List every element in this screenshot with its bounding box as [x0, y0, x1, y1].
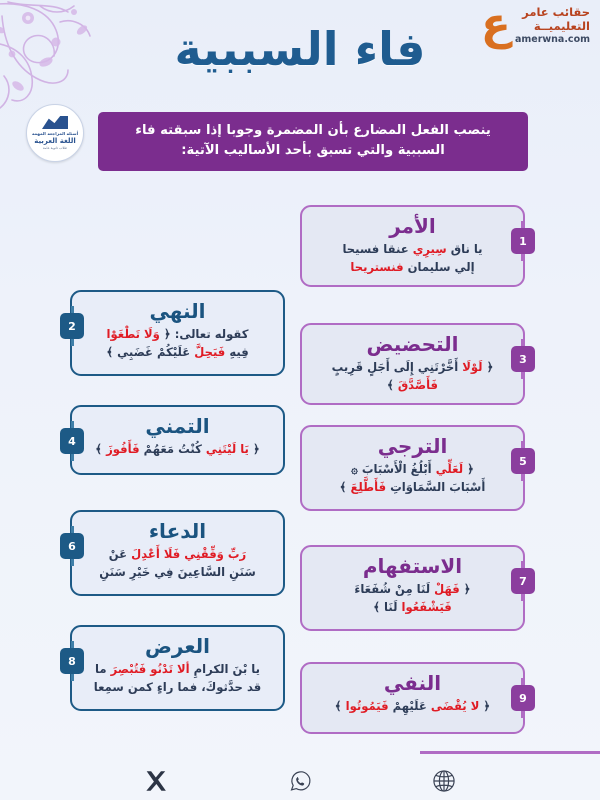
card-body-line: ﴿ لا يُقْضَى عَلَيْهِمْ فَيَمُوتُوا ﴾ [316, 698, 509, 715]
highlighted-text: وَلَا تَطْغَوْا [107, 327, 160, 341]
card-title: التحضيض [316, 332, 509, 356]
card-number-badge: 9 [511, 685, 535, 711]
card-title: النفي [316, 671, 509, 695]
plain-text: ﴿ [479, 699, 490, 713]
card-body: ﴿ لَوْلَا أَخَّرْتَنِي إِلَى أَجَلٍ قَرِ… [316, 359, 509, 393]
card-body: رَبِّ وَفِّقْنِي فَلَا أَعْدِلَ عَنْسَنَ… [86, 546, 269, 580]
seal-emblem-icon [42, 116, 68, 129]
plain-text: قد حدَّثوكَ، فما راءٍ كمن سمِعا [94, 680, 262, 694]
card-number-badge: 1 [511, 228, 535, 254]
card-9[interactable]: 9النفي﴿ لا يُقْضَى عَلَيْهِمْ فَيَمُوتُو… [300, 662, 525, 734]
card-title: الترجي [316, 434, 509, 458]
plain-text: لَنَا مِنْ شُفَعَاءَ [354, 582, 434, 596]
footer-socials [0, 768, 600, 796]
plain-text: ﴿ [483, 360, 494, 374]
card-inner: الاستفهام﴿ فَهَلْ لَنَا مِنْ شُفَعَاءَفَ… [316, 554, 509, 616]
card-title: الأمر [316, 214, 509, 238]
card-body-line: يا بْنَ الكرامِ ألا تَدْنُو فَتُبْصِرَ م… [86, 661, 269, 678]
plain-text: ﴾ [387, 378, 398, 392]
plain-text: ﴿ [249, 442, 260, 456]
card-4[interactable]: 4التمني﴿ يَا لَيْتَنِي كُنْتُ مَعَهُمْ ف… [70, 405, 285, 475]
plain-text: عَنْ [109, 547, 131, 561]
card-body: ﴿ فَهَلْ لَنَا مِنْ شُفَعَاءَفَيَشْفَعُو… [316, 581, 509, 615]
card-3[interactable]: 3التحضيض﴿ لَوْلَا أَخَّرْتَنِي إِلَى أَج… [300, 323, 525, 405]
card-number-badge: 7 [511, 568, 535, 594]
card-inner: الأمريا ناق سِيرِي عنقا فسيحاإلي سليمان … [316, 214, 509, 276]
seal-logo: أسئلة المراجعة المهمة اللغة العربية طلاب… [26, 104, 84, 162]
plain-text: إلي سليمان [404, 260, 475, 274]
social-x-twitter[interactable] [143, 768, 169, 796]
social-globe[interactable] [431, 768, 457, 796]
card-title: التمني [86, 414, 269, 438]
plain-text: يا ناق [447, 242, 483, 256]
card-1[interactable]: 1الأمريا ناق سِيرِي عنقا فسيحاإلي سليمان… [300, 205, 525, 287]
card-body-line: سَنَنِ السَّاعِينَ فِي خَيْرِ سَنَنِ [86, 564, 269, 581]
highlighted-text: فَأَفُوزَ [106, 442, 139, 456]
whatsapp-icon [287, 768, 313, 794]
highlighted-text: فَيَمُوتُوا [346, 699, 389, 713]
social-whatsapp[interactable] [287, 768, 313, 796]
plain-text: أَبْلُغُ الْأَسْبَابَ ۞ [351, 462, 436, 476]
card-inner: الدعاءرَبِّ وَفِّقْنِي فَلَا أَعْدِلَ عَ… [86, 519, 269, 581]
plain-text: فِيهِ [225, 345, 248, 359]
card-body-line: ﴿ يَا لَيْتَنِي كُنْتُ مَعَهُمْ فَأَفُوز… [86, 441, 269, 458]
highlighted-text: يَا لَيْتَنِي [206, 442, 249, 456]
card-body-line: فَيَشْفَعُوا لَنَا ﴾ [316, 599, 509, 616]
card-inner: العرضيا بْنَ الكرامِ ألا تَدْنُو فَتُبْص… [86, 634, 269, 696]
card-number-badge: 3 [511, 346, 535, 372]
card-inner: التمني﴿ يَا لَيْتَنِي كُنْتُ مَعَهُمْ فَ… [86, 414, 269, 459]
card-number-badge: 2 [60, 313, 84, 339]
card-body: كقوله تعالى: ﴿ وَلَا تَطْغَوْافِيهِ فَيَ… [86, 326, 269, 360]
plain-text: كُنْتُ مَعَهُمْ [140, 442, 206, 456]
card-title: العرض [86, 634, 269, 658]
plain-text: عَلَيْهِمْ [389, 699, 431, 713]
card-inner: التحضيض﴿ لَوْلَا أَخَّرْتَنِي إِلَى أَجَ… [316, 332, 509, 394]
card-2[interactable]: 2النهيكقوله تعالى: ﴿ وَلَا تَطْغَوْافِيه… [70, 290, 285, 376]
card-body: ﴿ لا يُقْضَى عَلَيْهِمْ فَيَمُوتُوا ﴾ [316, 698, 509, 715]
card-number-badge: 4 [60, 428, 84, 454]
card-body-line: أَسْبَابَ السَّمَاوَاتِ فَأَطَّلِعَ ﴾ [316, 479, 509, 496]
plain-text: عنقا فسيحا [342, 242, 412, 256]
card-title: الاستفهام [316, 554, 509, 578]
plain-text: ﴿ [463, 462, 474, 476]
seal-line-1: أسئلة المراجعة المهمة [32, 131, 78, 136]
highlighted-text: فَلَا أَعْدِلَ [131, 547, 180, 561]
highlighted-text: فَيَشْفَعُوا [402, 600, 452, 614]
footer-rule [420, 751, 600, 754]
card-inner: النهيكقوله تعالى: ﴿ وَلَا تَطْغَوْافِيهِ… [86, 299, 269, 361]
cards-container: 1الأمريا ناق سِيرِي عنقا فسيحاإلي سليمان… [0, 205, 600, 760]
card-7[interactable]: 7الاستفهام﴿ فَهَلْ لَنَا مِنْ شُفَعَاءَف… [300, 545, 525, 631]
card-body-line: رَبِّ وَفِّقْنِي فَلَا أَعْدِلَ عَنْ [86, 546, 269, 563]
highlighted-text: لَوْلَا [462, 360, 482, 374]
brand-line-1: حقائب عامر [515, 6, 590, 20]
highlighted-text: فَأَطَّلِعَ [351, 480, 387, 494]
card-5[interactable]: 5الترجي﴿ لَعَلِّي أَبْلُغُ الْأَسْبَابَ … [300, 425, 525, 511]
plain-text: كقوله تعالى: ﴿ [160, 327, 249, 341]
plain-text: ما [95, 662, 111, 676]
highlighted-text: ألا تَدْنُو فَتُبْصِرَ [111, 662, 190, 676]
card-body: ﴿ لَعَلِّي أَبْلُغُ الْأَسْبَابَ ۞أَسْبَ… [316, 461, 509, 495]
highlighted-text: سِيرِي [413, 242, 447, 256]
highlighted-text: فَيَحِلَّ [194, 345, 225, 359]
plain-text: يا بْنَ الكرامِ [190, 662, 260, 676]
card-inner: الترجي﴿ لَعَلِّي أَبْلُغُ الْأَسْبَابَ ۞… [316, 434, 509, 496]
card-body-line: ﴿ لَوْلَا أَخَّرْتَنِي إِلَى أَجَلٍ قَرِ… [316, 359, 509, 393]
plain-text: لَنَا ﴾ [373, 600, 401, 614]
card-body-line: قد حدَّثوكَ، فما راءٍ كمن سمِعا [86, 679, 269, 696]
seal-line-2: اللغة العربية [34, 137, 76, 145]
plain-text: ﴾ [95, 442, 106, 456]
card-body: يا بْنَ الكرامِ ألا تَدْنُو فَتُبْصِرَ م… [86, 661, 269, 695]
x-twitter-icon [143, 768, 169, 794]
card-body-line: كقوله تعالى: ﴿ وَلَا تَطْغَوْا [86, 326, 269, 343]
card-body-line: إلي سليمان فنستريحا [316, 259, 509, 276]
seal-line-3: طلاب ثانوية عامة [43, 146, 67, 150]
highlighted-text: فنستريحا [350, 260, 403, 274]
card-8[interactable]: 8العرضيا بْنَ الكرامِ ألا تَدْنُو فَتُبْ… [70, 625, 285, 711]
card-body-line: ﴿ فَهَلْ لَنَا مِنْ شُفَعَاءَ [316, 581, 509, 598]
card-body: يا ناق سِيرِي عنقا فسيحاإلي سليمان فنستر… [316, 241, 509, 275]
card-title: النهي [86, 299, 269, 323]
card-inner: النفي﴿ لا يُقْضَى عَلَيْهِمْ فَيَمُوتُوا… [316, 671, 509, 716]
card-number-badge: 5 [511, 448, 535, 474]
card-title: الدعاء [86, 519, 269, 543]
card-number-badge: 8 [60, 648, 84, 674]
card-6[interactable]: 6الدعاءرَبِّ وَفِّقْنِي فَلَا أَعْدِلَ ع… [70, 510, 285, 596]
highlighted-text: رَبِّ وَفِّقْنِي [180, 547, 246, 561]
highlighted-text: فَهَلْ [434, 582, 460, 596]
card-number-badge: 6 [60, 533, 84, 559]
card-body-line: يا ناق سِيرِي عنقا فسيحا [316, 241, 509, 258]
card-body-line: ﴿ لَعَلِّي أَبْلُغُ الْأَسْبَابَ ۞ [316, 461, 509, 478]
plain-text: عَلَيْكُمْ غَضَبِي ﴾ [106, 345, 194, 359]
plain-text: ﴾ [340, 480, 351, 494]
plain-text: سَنَنِ السَّاعِينَ فِي خَيْرِ سَنَنِ [99, 565, 255, 579]
highlighted-text: فَأَصَّدَّقَ [398, 378, 438, 392]
plain-text: أَخَّرْتَنِي إِلَى أَجَلٍ قَرِيبٍ [332, 360, 463, 374]
intro-banner: ينصب الفعل المضارع بأن المضمرة وجوبا إذا… [98, 112, 528, 171]
infographic-page: ع حقائب عامر التعليميــة amerwna.com فاء… [0, 0, 600, 800]
page-title: فاء السببية [0, 22, 600, 76]
card-body-line: فِيهِ فَيَحِلَّ عَلَيْكُمْ غَضَبِي ﴾ [86, 344, 269, 361]
plain-text: أَسْبَابَ السَّمَاوَاتِ [386, 480, 485, 494]
globe-icon [431, 768, 457, 794]
plain-text: ﴿ [460, 582, 471, 596]
highlighted-text: لا يُقْضَى [431, 699, 480, 713]
card-body: ﴿ يَا لَيْتَنِي كُنْتُ مَعَهُمْ فَأَفُوز… [86, 441, 269, 458]
plain-text: ﴾ [335, 699, 346, 713]
highlighted-text: لَعَلِّي [436, 462, 463, 476]
